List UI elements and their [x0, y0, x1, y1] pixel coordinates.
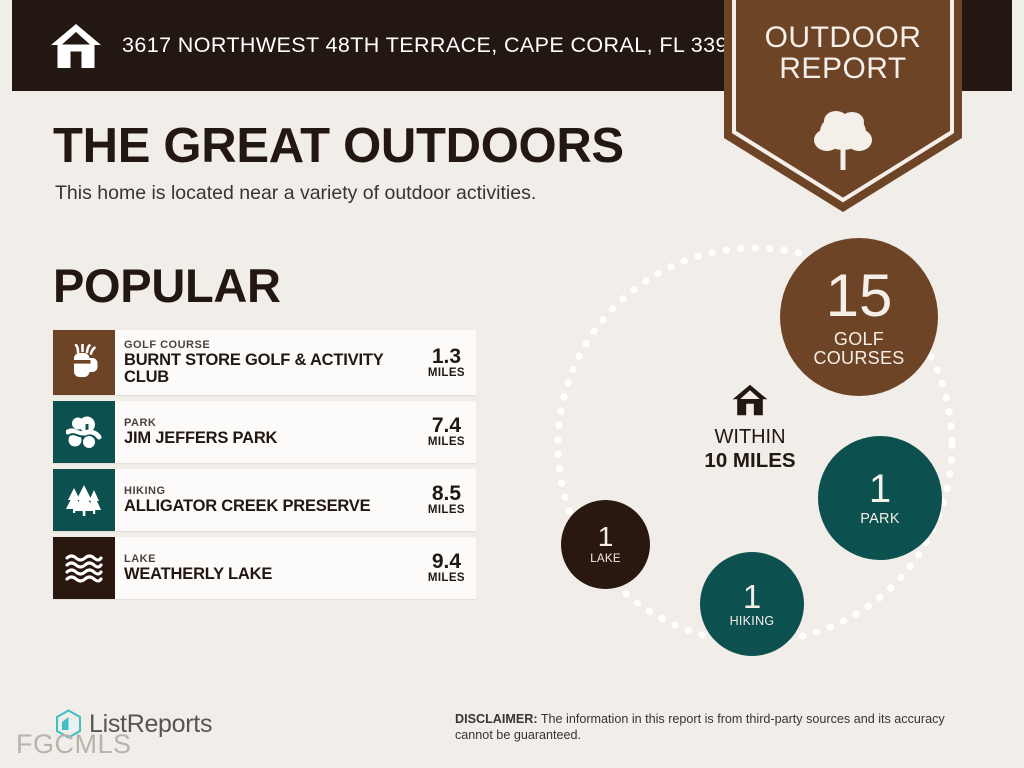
park-trees-icon [53, 401, 115, 463]
list-item-category: GOLF COURSE [124, 339, 424, 352]
golf-bag-icon [53, 330, 115, 395]
list-item[interactable]: GOLF COURSE BURNT STORE GOLF & ACTIVITY … [53, 330, 476, 395]
badge-line-1: OUTDOOR [724, 22, 962, 53]
list-item-category: PARK [124, 417, 424, 430]
diagram-center-label: WITHIN 10 MILES [670, 384, 830, 472]
distance-unit: MILES [428, 504, 465, 517]
section-title-popular: POPULAR [53, 258, 281, 313]
list-item-name: ALLIGATOR CREEK PRESERVE [124, 498, 424, 516]
distance-value: 8.5 [428, 483, 465, 504]
bubble-label: HIKING [730, 615, 775, 628]
bubble-label: PARK [860, 512, 900, 527]
distance-value: 9.4 [428, 551, 465, 572]
list-item[interactable]: LAKE WEATHERLY LAKE 9.4 MILES [53, 537, 476, 599]
distance-unit: MILES [428, 367, 465, 380]
radius-label: 10 MILES [670, 449, 830, 472]
amenities-bubble-diagram: 15 GOLF COURSES 1 PARK 1 HIKING 1 LAKE W… [520, 210, 990, 680]
list-item-category: LAKE [124, 553, 424, 566]
distance-unit: MILES [428, 436, 465, 449]
bubble-count: 1 [598, 523, 614, 551]
disclaimer: DISCLAIMER: The information in this repo… [455, 711, 975, 743]
bubble-label: GOLF COURSES [813, 330, 904, 368]
list-item-distance: 7.4 MILES [424, 415, 476, 449]
list-item[interactable]: HIKING ALLIGATOR CREEK PRESERVE 8.5 MILE… [53, 469, 476, 531]
bubble-lake[interactable]: 1 LAKE [561, 500, 650, 589]
home-icon [732, 384, 768, 416]
bubble-hiking[interactable]: 1 HIKING [700, 552, 804, 656]
home-icon [50, 23, 102, 69]
page-title: THE GREAT OUTDOORS [53, 118, 624, 174]
bubble-label-line1: GOLF [813, 330, 904, 349]
bubble-golf-courses[interactable]: 15 GOLF COURSES [780, 238, 938, 396]
badge-title: OUTDOOR REPORT [724, 22, 962, 84]
list-item-name: JIM JEFFERS PARK [124, 430, 424, 448]
list-item-distance: 8.5 MILES [424, 483, 476, 517]
header-address: 3617 NORTHWEST 48TH TERRACE, CAPE CORAL,… [122, 33, 753, 58]
bubble-label-line2: COURSES [813, 349, 904, 368]
waves-icon [53, 537, 115, 599]
bubble-count: 1 [869, 469, 891, 509]
bubble-count: 1 [743, 580, 761, 613]
page-subtitle: This home is located near a variety of o… [55, 182, 536, 205]
list-item-name: BURNT STORE GOLF & ACTIVITY CLUB [124, 352, 424, 387]
distance-unit: MILES [428, 572, 465, 585]
distance-value: 7.4 [428, 415, 465, 436]
list-item-category: HIKING [124, 485, 424, 498]
bubble-label: LAKE [590, 553, 621, 565]
list-item-distance: 9.4 MILES [424, 551, 476, 585]
pine-trees-icon [53, 469, 115, 531]
bubble-park[interactable]: 1 PARK [818, 436, 942, 560]
disclaimer-label: DISCLAIMER: [455, 712, 538, 726]
distance-value: 1.3 [428, 346, 465, 367]
outdoor-report-badge: OUTDOOR REPORT [724, 0, 962, 212]
within-label: WITHIN [670, 425, 830, 449]
badge-line-2: REPORT [724, 53, 962, 84]
fgcmls-watermark: FGCMLS [16, 729, 132, 760]
list-item-distance: 1.3 MILES [424, 346, 476, 380]
bubble-count: 15 [826, 266, 893, 326]
list-item-name: WEATHERLY LAKE [124, 566, 424, 584]
popular-list: GOLF COURSE BURNT STORE GOLF & ACTIVITY … [53, 330, 476, 605]
list-item[interactable]: PARK JIM JEFFERS PARK 7.4 MILES [53, 401, 476, 463]
